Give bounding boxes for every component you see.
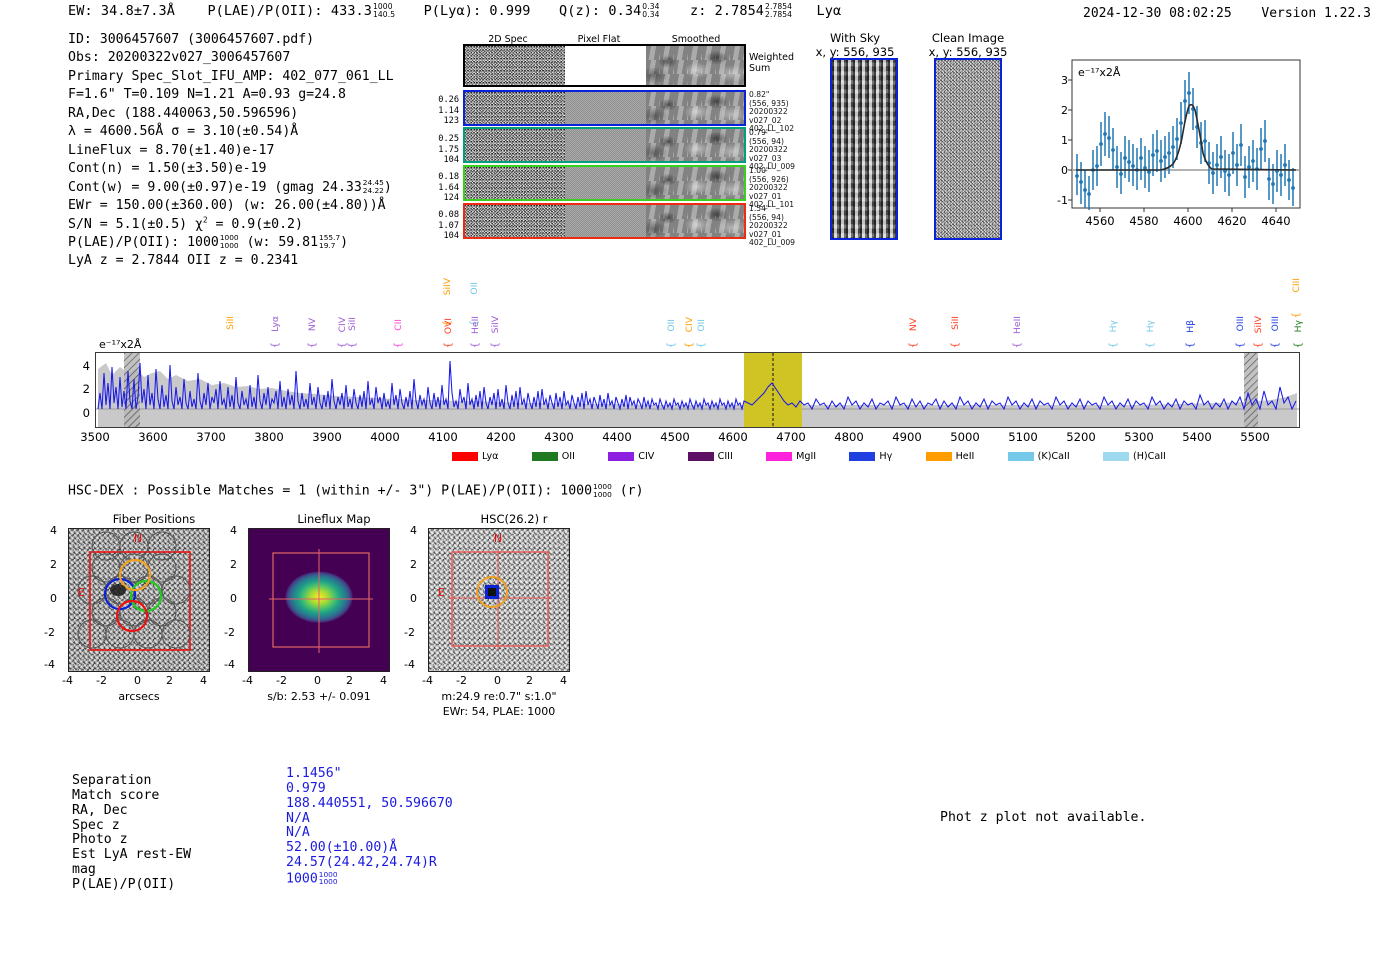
line-label-civ-2: CIV (684, 317, 695, 332)
info-snr: S/N = 5.1(±0.5) (68, 217, 195, 232)
line-label-oiii-2: OIII (1270, 316, 1281, 331)
legend-chip-hcaii (1103, 452, 1129, 461)
line-label-oii-upper: OII (469, 282, 480, 295)
timestamp-version: 2024-12-30 08:02:25 Version 1.22.3 (1083, 6, 1371, 21)
label-separation: Separation (72, 774, 191, 789)
header-plya: P(Lyα): 0.999 (424, 3, 531, 19)
line-brace-siiv-3: { (1253, 342, 1264, 348)
strip-2-image (463, 165, 746, 201)
label-photo-z: Photo z (72, 833, 191, 848)
strip-2-nums: 0.18 1.64 124 (425, 172, 459, 204)
match-table-labels: Separation Match score RA, Dec Spec z Ph… (72, 774, 191, 893)
line-label-siii-3: SiII (950, 316, 961, 330)
line-brace-ovi: { (443, 342, 454, 348)
label-radec: RA, Dec (72, 804, 191, 819)
info-plae-mid: (w: 59.81 (239, 235, 318, 250)
strip-0-num-2: 123 (425, 116, 459, 127)
info-chi2-value: = 0.9(±0.2) (208, 217, 303, 232)
source-info-block: ID: 3006457607 (3006457607.pdf) Obs: 202… (68, 31, 394, 271)
clean-image (934, 58, 1002, 240)
strip-2-num-0: 0.18 (425, 172, 459, 183)
clean-image-coords: x, y: 556, 935 (923, 45, 1013, 59)
info-obs: Obs: 20200322v027_3006457607 (68, 49, 394, 67)
svg-text:4620: 4620 (1217, 214, 1246, 228)
legend-label-hgamma: Hγ (879, 451, 892, 462)
line-brace-nv-2: { (908, 342, 919, 348)
full-spectrum-svg (96, 353, 1299, 427)
hsc-r-caption-2: EWr: 54, PLAE: 1000 (414, 705, 584, 718)
line-brace-oii-3: { (696, 342, 707, 348)
line-label-hgamma-3: Hγ (1293, 320, 1304, 332)
compass-east-label: E (78, 586, 85, 599)
line-brace-hgamma-1: { (1108, 342, 1119, 348)
line-label-ovi: OVI (443, 318, 454, 334)
line-label-oiii-1: OIII (1235, 316, 1246, 331)
spectrum-ytick-0: 0 (72, 406, 90, 420)
value-photo-z: N/A (286, 826, 453, 841)
label-mag: mag (72, 863, 191, 878)
svg-text:4560: 4560 (1085, 214, 1114, 228)
line-label-heii-2: HeII (1012, 316, 1023, 334)
spec2d-weighted-sum-strip (463, 44, 746, 87)
info-cont-n: Cont(n) = 1.50(±3.50)e-19 (68, 160, 394, 178)
strip-0-image (463, 90, 746, 126)
legend-label-mgii: MgII (796, 451, 816, 462)
fiber-positions-panel: N E 4 2 0 -2 -4 -4 -2 0 2 4 arcsecs (68, 528, 240, 678)
legend-chip-mgii (766, 452, 792, 461)
info-plae-post: ) (340, 235, 348, 250)
info-cont-w-pre: Cont(w) = 9.00(±0.97)e-19 (gmag 24.33 (68, 180, 362, 195)
info-primary-spec: Primary Spec_Slot_IFU_AMP: 402_077_061_L… (68, 68, 394, 86)
value-plae: 100010001000 (286, 871, 453, 887)
weighted-sum-label: Weighted Sum (749, 52, 794, 74)
strip-3-meta-4: 402_LU_009 (749, 239, 795, 248)
legend-label-lya: Lyα (482, 451, 498, 462)
line-label-nv-2: NV (908, 318, 919, 331)
line-profile-yaxis-note: e⁻¹⁷x2Å (1078, 66, 1121, 79)
weighted-sum-line1: Weighted (749, 52, 794, 63)
hscdex-header-pre: HSC-DEX : Possible Matches = 1 (within +… (68, 484, 592, 499)
line-brace-nv-1: { (307, 342, 318, 348)
value-match-score: 0.979 (286, 782, 453, 797)
strip-1-image (463, 127, 746, 163)
line-profile-svg: 32 10-1 45604580 460046204640 (1040, 58, 1302, 238)
label-spec-z: Spec z (72, 819, 191, 834)
header-ew: EW: 34.8±7.3Å (68, 3, 175, 19)
info-plae-w-lo: 19.7 (319, 242, 340, 250)
strip-3-nums: 0.08 1.07 104 (425, 210, 459, 242)
svg-text:3: 3 (1061, 74, 1068, 87)
line-label-siii-1: SiII (225, 316, 236, 330)
hsc-r-cutout-overlay: N E (428, 528, 570, 672)
line-brace-siii-3: { (950, 342, 961, 348)
spectrum-line-labels: SiIV { OII { CIII { SiII Lyα { NV { CIV … (95, 276, 1300, 354)
version-label: Version 1.22.3 (1261, 6, 1371, 21)
value-mag: 24.57(24.42,24.74)R (286, 856, 453, 871)
match-table-values: 1.1456" 0.979 188.440551, 50.596670 N/A … (286, 767, 453, 887)
fiber-positions-xlabel: arcsecs (68, 690, 210, 703)
info-ewr: EWr = 150.00(±360.00) (w: 26.00(±4.80))Å (68, 197, 394, 215)
strip-1-num-1: 1.75 (425, 145, 459, 156)
line-brace-hgamma-3: { (1293, 342, 1304, 348)
compass-north-label: N (134, 532, 142, 545)
photoz-unavailable-message: Phot z plot not available. (940, 810, 1146, 825)
line-brace-siii-2: { (347, 342, 358, 348)
strip-3-meta: 1.54" (556, 94) 20200322 v027_01 402_LU_… (749, 205, 795, 248)
svg-text:4600: 4600 (1173, 214, 1202, 228)
hsc-r-cutout-panel: N E 4 2 0 -2 -4 -4 -2 0 2 4 m:24.9 re:0.… (428, 528, 600, 678)
full-spectrum-plot (95, 352, 1300, 428)
legend-chip-hgamma (849, 452, 875, 461)
svg-text:1: 1 (1061, 134, 1068, 147)
spectrum-ytick-2: 2 (72, 382, 90, 396)
clean-image-title: Clean Image (925, 31, 1011, 45)
label-match-score: Match score (72, 789, 191, 804)
value-plae-lo: 1000 (319, 878, 338, 886)
legend-chip-ciii (688, 452, 714, 461)
line-label-hgamma-2: Hγ (1145, 320, 1156, 332)
line-brace-siiv-2: { (490, 342, 501, 348)
hsc-r-caption-1: m:24.9 re:0.7" s:1.0" (414, 690, 584, 703)
info-cont-w-post: ) (384, 180, 392, 195)
cutout-title-fiber-positions: Fiber Positions (68, 512, 240, 526)
legend-label-kcaii: (K)CaII (1038, 451, 1070, 462)
strip-1-num-2: 104 (425, 155, 459, 166)
line-label-hgamma-1: Hγ (1108, 320, 1119, 332)
spectrum-xticks: 3500 3600 3700 3800 3900 4000 4100 4200 … (95, 430, 1300, 446)
info-chi-symbol: χ (195, 217, 203, 232)
legend-chip-lya (452, 452, 478, 461)
line-label-nv-1: NV (307, 318, 318, 331)
with-sky-title: With Sky (818, 31, 892, 45)
header-z: z: 2.7854 (690, 3, 764, 19)
info-cont-w: Cont(w) = 9.00(±0.97)e-19 (gmag 24.3324.… (68, 179, 394, 197)
spec2d-fiber-strips: 0.26 1.14 123 0.82" (556, 935) 20200322 … (425, 90, 755, 242)
svg-text:-1: -1 (1057, 194, 1068, 207)
line-brace-heii-2: { (1012, 342, 1023, 348)
header-qz-lo: 0.34 (642, 11, 659, 19)
line-brace-cii: { (393, 342, 404, 348)
strip-2-num-2: 124 (425, 193, 459, 204)
line-brace-ciii-upper: { (1291, 312, 1302, 318)
info-radec: RA,Dec (188.440063,50.596596) (68, 105, 394, 123)
legend-label-civ: CIV (638, 451, 654, 462)
legend-chip-kcaii (1008, 452, 1034, 461)
svg-text:4640: 4640 (1261, 214, 1290, 228)
strip-0-nums: 0.26 1.14 123 (425, 95, 459, 127)
strip-1-nums: 0.25 1.75 104 (425, 134, 459, 166)
info-plae-pre: P(LAE)/P(OII): 1000 (68, 235, 219, 250)
line-label-hbeta: Hβ (1185, 320, 1196, 333)
header-plae-lo: 140.5 (373, 11, 395, 19)
spectrum-legend: Lyα OII CIV CIII MgII Hγ HeII (K)CaII (H… (452, 446, 1166, 465)
header-qz: Q(z): 0.34 (559, 3, 641, 19)
legend-label-ciii: CIII (718, 451, 733, 462)
line-brace-civ-2: { (684, 342, 695, 348)
info-lineflux: LineFlux = 8.70(±1.40)e-17 (68, 142, 394, 160)
header-plae-value: 433.3 (331, 3, 372, 19)
lineflux-map-caption: s/b: 2.53 +/- 0.091 (238, 690, 400, 703)
hscdex-header: HSC-DEX : Possible Matches = 1 (within +… (68, 483, 644, 499)
generation-timestamp: 2024-12-30 08:02:25 (1083, 6, 1232, 21)
legend-chip-oii (532, 452, 558, 461)
label-est-lya-rest-ew: Est LyA rest-EW (72, 848, 191, 863)
strip-3-image (463, 203, 746, 239)
label-plae: P(LAE)/P(OII) (72, 878, 191, 893)
line-label-oii-3: OII (696, 319, 707, 332)
strip-2-num-1: 1.64 (425, 183, 459, 194)
value-plae-main: 1000 (286, 871, 318, 886)
lineflux-map-panel: 4 2 0 -2 -4 -4 -2 0 2 4 s/b: 2.53 +/- 0.… (248, 528, 420, 678)
header-z-lo: 2.7854 (765, 11, 792, 19)
line-label-siiv-upper: SiIV (442, 278, 453, 295)
info-seeing-throughput: F=1.6" T=0.109 N=1.21 A=0.93 g=24.8 (68, 86, 394, 104)
header-line-name: Lyα (817, 3, 842, 19)
line-label-lya: Lyα (270, 316, 281, 332)
legend-chip-heii (926, 452, 952, 461)
line-brace-lya: { (270, 342, 281, 348)
with-sky-image (830, 58, 898, 240)
spectrum-ytick-4: 4 (72, 359, 90, 373)
hscdex-header-lo: 1000 (593, 491, 612, 499)
strip-3-num-2: 104 (425, 231, 459, 242)
strip-3-num-0: 0.08 (425, 210, 459, 221)
hsc-compass-north-label: N (494, 532, 502, 545)
info-plae-lo: 1000 (220, 242, 239, 250)
info-plae: P(LAE)/P(OII): 100010001000 (w: 59.81155… (68, 234, 394, 252)
line-label-siiv-3: SiIV (1253, 316, 1264, 333)
fiber-positions-overlay: N E (68, 528, 210, 672)
strip-0-num-1: 1.14 (425, 106, 459, 117)
info-redshifts: LyA z = 2.7844 OII z = 0.2341 (68, 252, 394, 270)
value-separation: 1.1456" (286, 767, 453, 782)
info-snr-chi2: S/N = 5.1(±0.5) χ2 = 0.9(±0.2) (68, 216, 394, 234)
line-brace-oiii-1: { (1235, 342, 1246, 348)
info-id: ID: 3006457607 (3006457607.pdf) (68, 31, 394, 49)
spectrum-yaxis-note: e⁻¹⁷x2Å (99, 338, 141, 351)
line-label-ciii-upper: CIII (1291, 278, 1302, 293)
svg-text:2: 2 (1061, 104, 1068, 117)
summary-header: EW: 34.8±7.3Å P(LAE)/P(OII): 433.3100014… (68, 3, 841, 19)
cutout-title-lineflux-map: Lineflux Map (248, 512, 420, 526)
line-label-heii-1: HeII (470, 316, 481, 334)
line-brace-oiii-2: { (1270, 342, 1281, 348)
line-label-siii-2: SiII (347, 317, 358, 331)
info-wavelength-sigma: λ = 4600.56Å σ = 3.10(±0.54)Å (68, 123, 394, 141)
strip-1-num-0: 0.25 (425, 134, 459, 145)
legend-label-heii: HeII (956, 451, 975, 462)
hscdex-header-post: (r) (612, 484, 644, 499)
strip-0-num-0: 0.26 (425, 95, 459, 106)
line-brace-heii-1: { (470, 342, 481, 348)
line-label-oii-2: OII (666, 319, 677, 332)
svg-text:0: 0 (1061, 164, 1068, 177)
value-spec-z: N/A (286, 812, 453, 827)
line-brace-hbeta: { (1185, 342, 1196, 348)
legend-chip-civ (608, 452, 634, 461)
header-plae-label: P(LAE)/P(OII): (207, 3, 322, 19)
strip-3-num-1: 1.07 (425, 221, 459, 232)
info-cont-w-lo: 24.22 (363, 187, 384, 195)
cutout-title-hsc-r: HSC(26.2) r (428, 512, 600, 526)
line-label-siiv-2: SiIV (490, 316, 501, 333)
legend-label-hcaii: (H)CaII (1133, 451, 1166, 462)
lineflux-map-overlay (249, 529, 390, 672)
line-brace-hgamma-2: { (1145, 342, 1156, 348)
line-profile-plot: 32 10-1 45604580 460046204640 (1040, 58, 1302, 238)
line-label-cii: CII (393, 319, 404, 331)
hsc-compass-east-label: E (438, 586, 445, 599)
svg-text:4580: 4580 (1129, 214, 1158, 228)
value-radec: 188.440551, 50.596670 (286, 797, 453, 812)
legend-label-oii: OII (562, 451, 575, 462)
line-brace-oii-2: { (666, 342, 677, 348)
value-est-lya-rest-ew: 52.00(±10.00)Å (286, 841, 453, 856)
with-sky-coords: x, y: 556, 935 (810, 45, 900, 59)
weighted-sum-line2: Sum (749, 63, 794, 74)
